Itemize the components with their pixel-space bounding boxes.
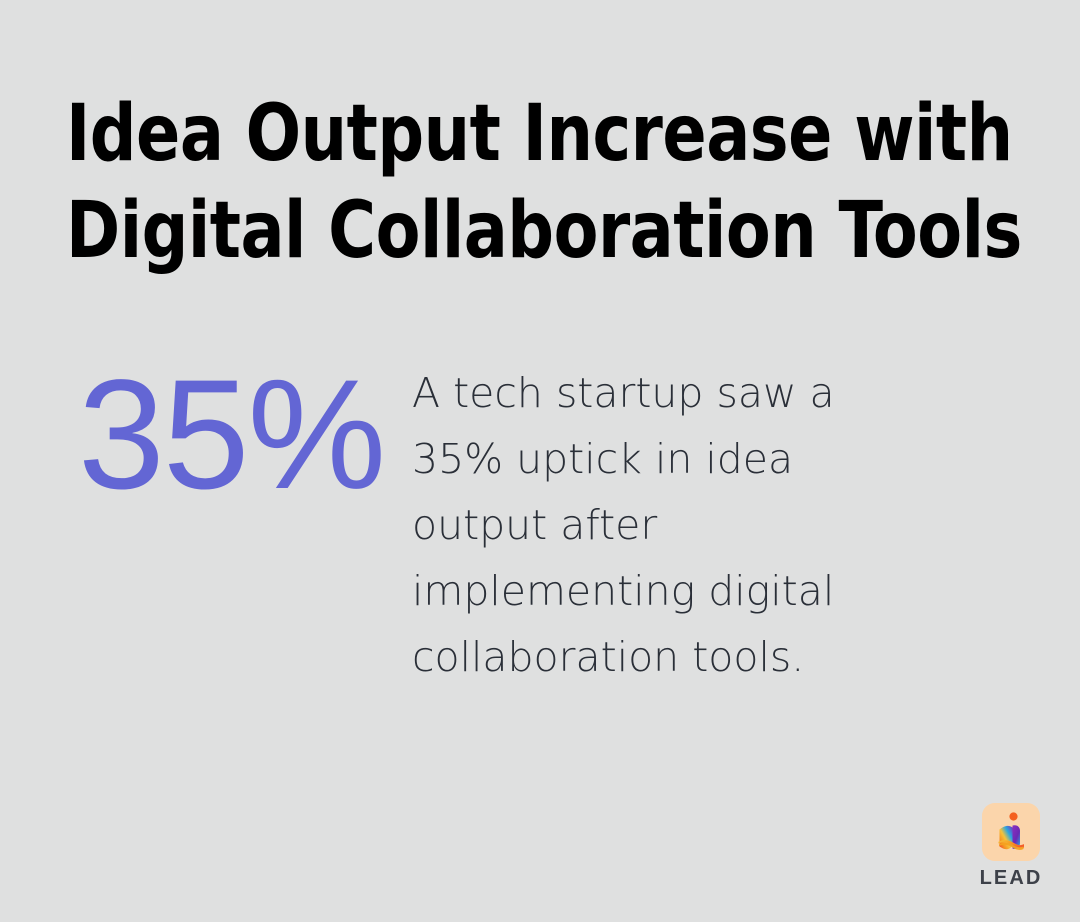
stat-value: 35% (78, 360, 412, 510)
title-line-2: Digital Collaboration Tools (66, 183, 968, 280)
lead-i-logo-icon (982, 803, 1040, 861)
page-title: Idea Output Increase with Digital Collab… (66, 86, 1036, 280)
infographic-canvas: Idea Output Increase with Digital Collab… (0, 0, 1080, 922)
stat-value-container: 35% (0, 360, 412, 510)
stat-description: A tech startup saw a 35% uptick in idea … (412, 360, 872, 690)
title-line-1: Idea Output Increase with (66, 86, 968, 183)
stat-description-container: A tech startup saw a 35% uptick in idea … (412, 360, 1080, 690)
logo-wordmark: LEAD (980, 868, 1043, 888)
stat-row: 35% A tech startup saw a 35% uptick in i… (0, 360, 1080, 690)
brand-logo: LEAD (968, 803, 1054, 888)
